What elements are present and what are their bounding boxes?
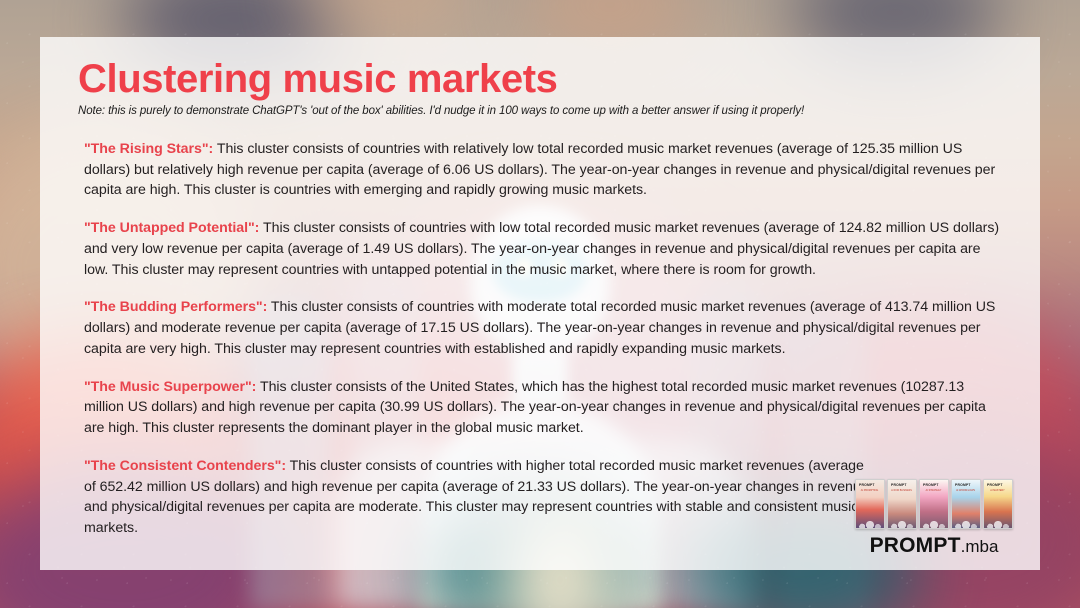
- book-artwork: [984, 502, 1012, 528]
- cluster-heading-consistent-contenders: "The Consistent Contenders":: [84, 458, 286, 474]
- book-title: PROMPT: [987, 483, 1003, 488]
- disclaimer-note: Note: this is purely to demonstrate Chat…: [78, 105, 1010, 117]
- cluster-paragraph-consistent-contenders: "The Consistent Contenders": This cluste…: [84, 456, 874, 539]
- book-artwork: [920, 502, 948, 528]
- book-artwork: [856, 502, 884, 528]
- brand-name-main: PROMPT: [870, 534, 961, 557]
- book-cover: PROMPT AI WORKFLOWS: [951, 479, 981, 529]
- brand-wordmark: PROMPT.mba: [850, 535, 1018, 556]
- cluster-paragraph-untapped-potential: "The Untapped Potential": This cluster c…: [84, 218, 1004, 280]
- cluster-body-rising-stars: This cluster consists of countries with …: [84, 141, 995, 198]
- cluster-heading-untapped-potential: "The Untapped Potential":: [84, 220, 259, 236]
- book-cover: PROMPT AI STRATEGY: [919, 479, 949, 529]
- book-subtitle: AI WORKFLOWS: [955, 489, 976, 492]
- book-title: PROMPT: [891, 483, 907, 488]
- book-subtitle: AI FOR BUSINESS: [891, 489, 912, 492]
- page-title: Clustering music markets: [78, 59, 1010, 99]
- book-title: PROMPT: [859, 483, 875, 488]
- cluster-paragraph-music-superpower: "The Music Superpower": This cluster con…: [84, 377, 1004, 439]
- book-subtitle: AI PROMPTING: [859, 489, 880, 492]
- book-subtitle: AI MASTERY: [987, 489, 1008, 492]
- book-cover: PROMPT AI MASTERY: [983, 479, 1013, 529]
- cluster-heading-rising-stars: "The Rising Stars":: [84, 141, 213, 157]
- brand-name-suffix: .mba: [961, 537, 999, 556]
- cluster-heading-budding-performers: "The Budding Performers":: [84, 299, 267, 315]
- cluster-paragraph-budding-performers: "The Budding Performers": This cluster c…: [84, 297, 1004, 359]
- cluster-heading-music-superpower: "The Music Superpower":: [84, 379, 256, 395]
- cluster-paragraph-rising-stars: "The Rising Stars": This cluster consist…: [84, 139, 1004, 201]
- book-cover: PROMPT AI FOR BUSINESS: [887, 479, 917, 529]
- book-artwork: [952, 502, 980, 528]
- book-covers-group: PROMPT AI PROMPTING PROMPT AI FOR BUSINE…: [850, 477, 1018, 529]
- content-card: Clustering music markets Note: this is p…: [40, 37, 1040, 570]
- prompt-mba-logo: PROMPT AI PROMPTING PROMPT AI FOR BUSINE…: [850, 477, 1018, 556]
- book-cover: PROMPT AI PROMPTING: [855, 479, 885, 529]
- book-subtitle: AI STRATEGY: [923, 489, 944, 492]
- book-artwork: [888, 502, 916, 528]
- book-title: PROMPT: [923, 483, 939, 488]
- book-title: PROMPT: [955, 483, 971, 488]
